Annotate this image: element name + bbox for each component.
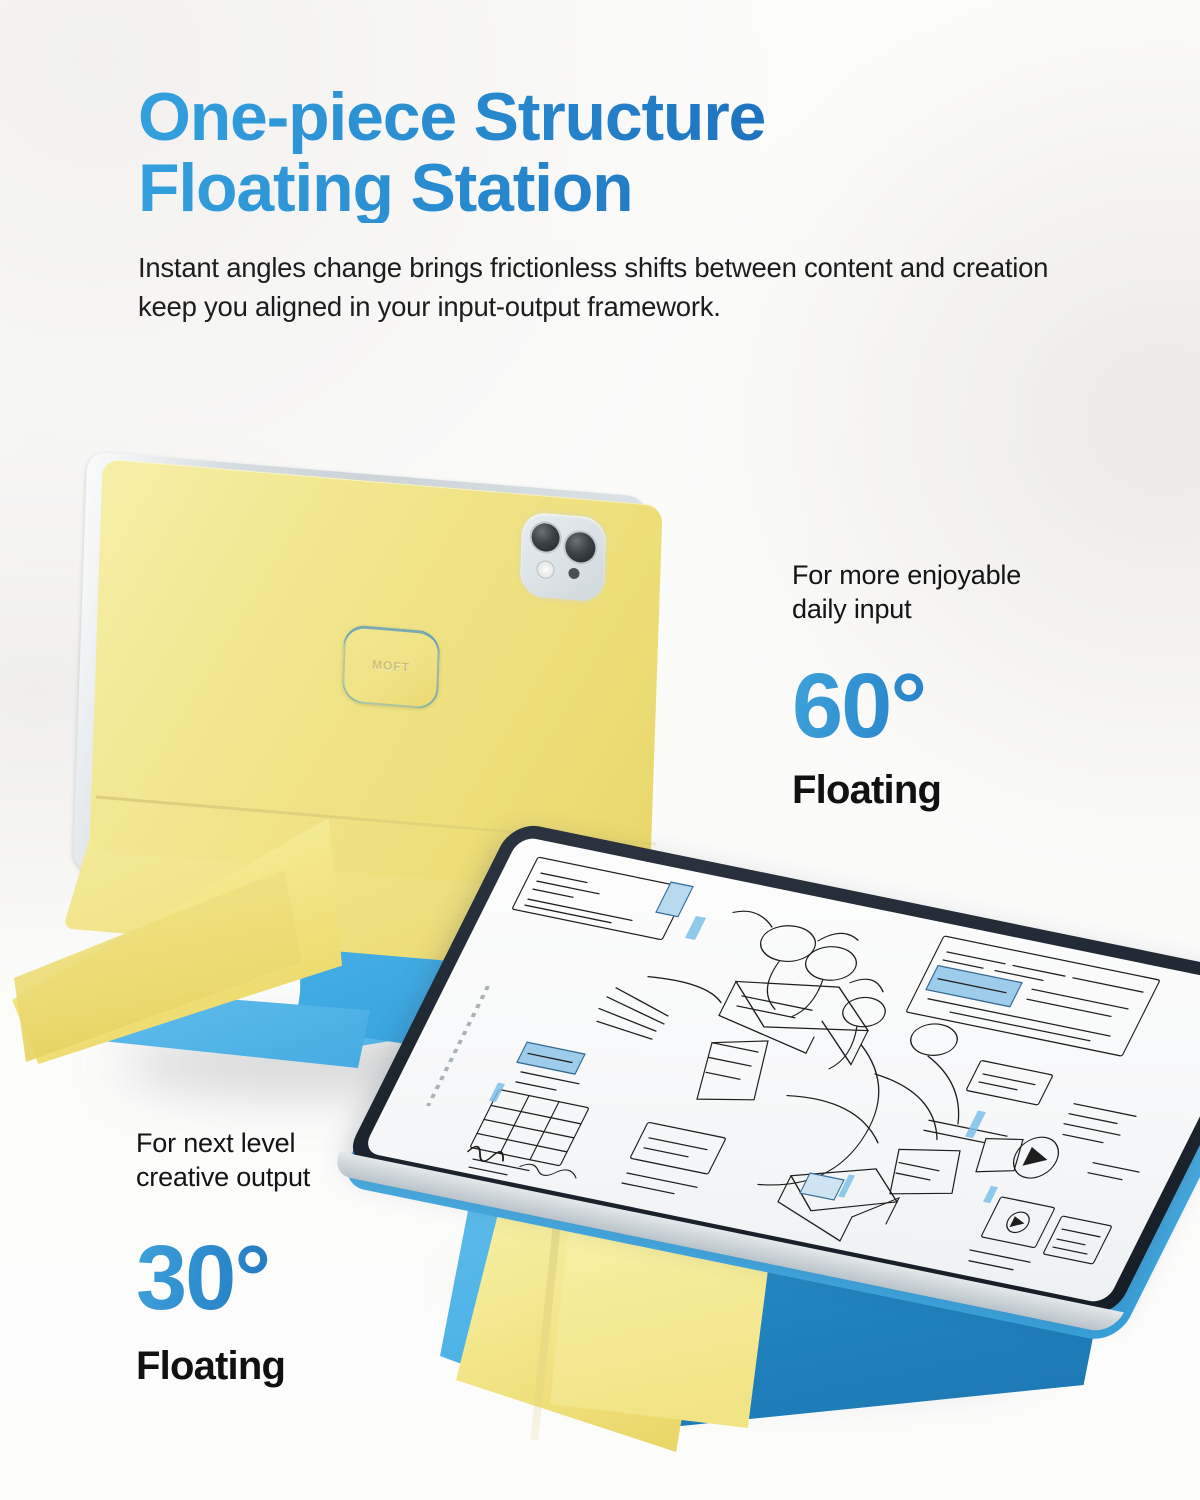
callout-60-mode-label: Floating xyxy=(792,770,1021,810)
tablet-front-view-30-degrees xyxy=(420,890,1200,1490)
camera-flash-icon xyxy=(537,561,554,578)
callout-60-degrees: For more enjoyable daily input 60° Float… xyxy=(792,558,1021,810)
callout-30-angle-value: 30° xyxy=(136,1232,310,1324)
callout-60-angle-value: 60° xyxy=(792,660,1021,752)
page-title: One-piece Structure Floating Station xyxy=(138,82,1078,223)
page-subtitle: Instant angles change brings frictionles… xyxy=(138,249,1058,326)
callout-60-lead: For more enjoyable daily input xyxy=(792,558,1021,626)
camera-cutout xyxy=(520,511,607,602)
callout-30-mode-label: Floating xyxy=(136,1346,310,1386)
lidar-sensor-icon xyxy=(568,568,579,580)
brand-logo-label: MOFT xyxy=(343,655,439,677)
callout-30-lead: For next level creative output xyxy=(136,1126,310,1194)
camera-lens-ultrawide-icon xyxy=(565,531,596,564)
magnetic-stand-pad: MOFT xyxy=(342,624,441,710)
header: One-piece Structure Floating Station Ins… xyxy=(138,82,1078,326)
callout-30-degrees: For next level creative output 30° Float… xyxy=(136,1126,310,1386)
camera-lens-wide-icon xyxy=(531,522,560,552)
